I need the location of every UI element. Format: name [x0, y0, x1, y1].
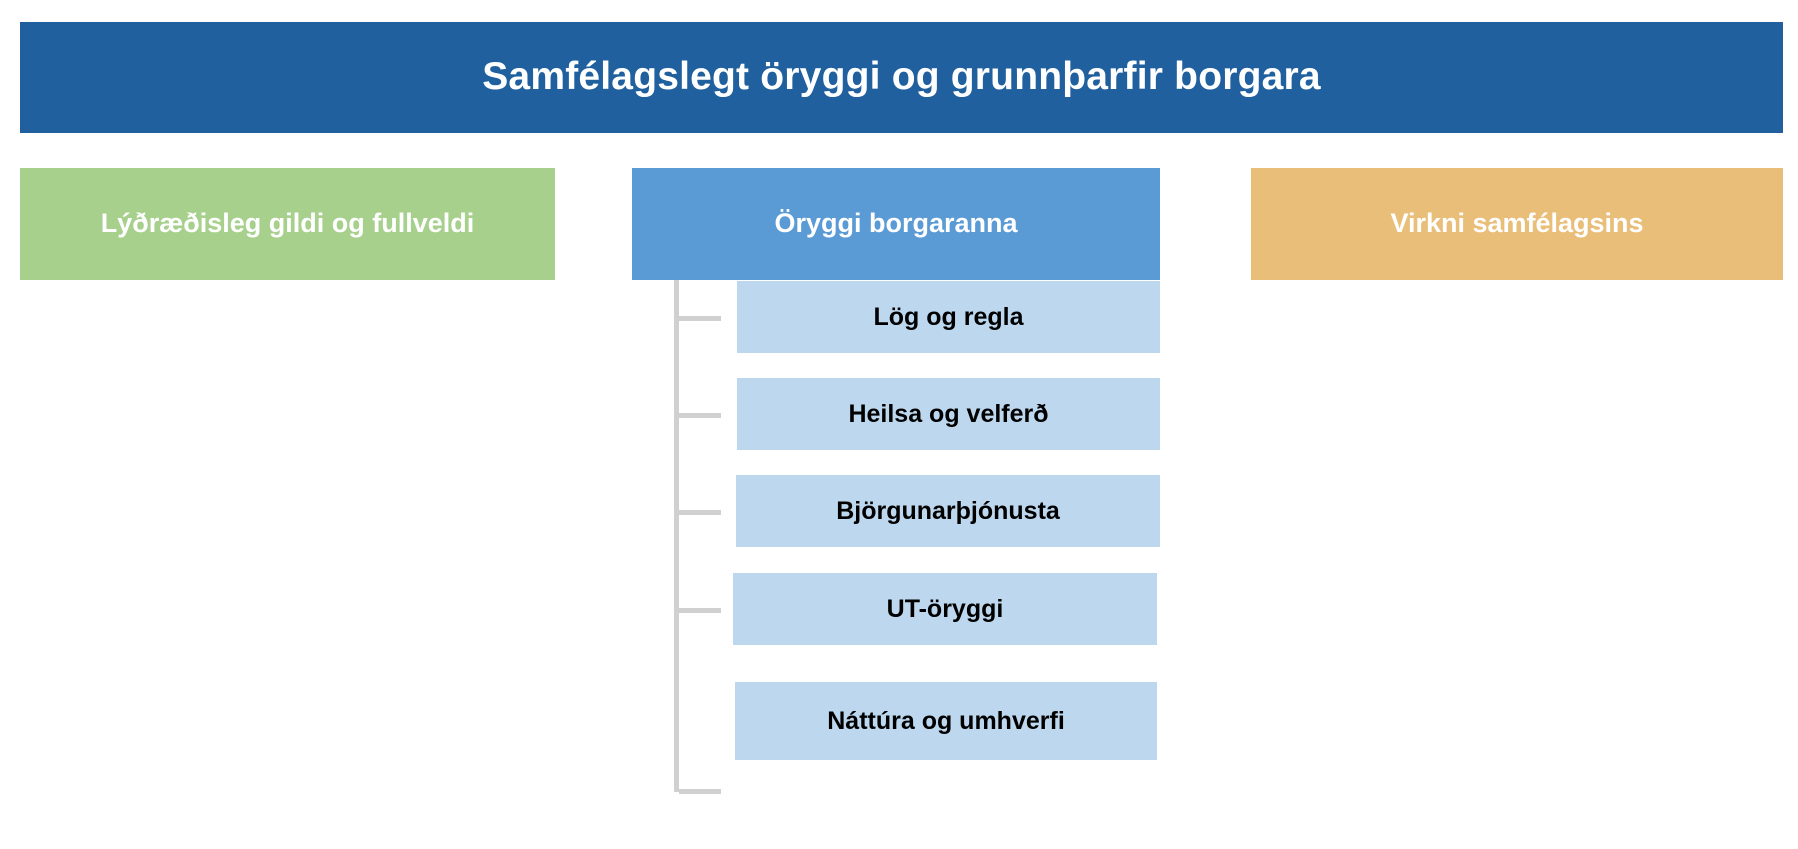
- child-label-health-and-welfare: Heilsa og velferð: [848, 400, 1048, 429]
- page-title: Samfélagslegt öryggi og grunnþarfir borg…: [482, 56, 1321, 99]
- pillar-label-function: Virkni samfélagsins: [1390, 208, 1643, 239]
- connector-trunk-vertical: [674, 280, 679, 792]
- child-box-law-and-order[interactable]: Lög og regla: [737, 281, 1160, 353]
- header-banner: Samfélagslegt öryggi og grunnþarfir borg…: [20, 22, 1783, 133]
- connector-stub-5: [679, 789, 721, 794]
- diagram-canvas: Samfélagslegt öryggi og grunnþarfir borg…: [0, 0, 1798, 849]
- child-box-it-security[interactable]: UT-öryggi: [733, 573, 1157, 645]
- pillar-label-security: Öryggi borgaranna: [774, 208, 1017, 239]
- pillar-box-security[interactable]: Öryggi borgaranna: [632, 168, 1160, 280]
- connector-stub-1: [679, 316, 721, 321]
- pillar-box-democracy[interactable]: Lýðræðisleg gildi og fullveldi: [20, 168, 555, 280]
- child-label-nature-and-environment: Náttúra og umhverfi: [827, 707, 1065, 736]
- child-label-it-security: UT-öryggi: [887, 595, 1004, 624]
- pillar-label-democracy: Lýðræðisleg gildi og fullveldi: [101, 208, 475, 239]
- connector-stub-3: [679, 510, 721, 515]
- child-box-rescue-service[interactable]: Björgunarþjónusta: [736, 475, 1160, 547]
- connector-stub-4: [679, 608, 721, 613]
- child-box-nature-and-environment[interactable]: Náttúra og umhverfi: [735, 682, 1157, 760]
- connector-stub-2: [679, 413, 721, 418]
- child-label-law-and-order: Lög og regla: [874, 303, 1024, 332]
- child-label-rescue-service: Björgunarþjónusta: [836, 497, 1060, 526]
- pillar-box-function[interactable]: Virkni samfélagsins: [1251, 168, 1783, 280]
- child-box-health-and-welfare[interactable]: Heilsa og velferð: [737, 378, 1160, 450]
